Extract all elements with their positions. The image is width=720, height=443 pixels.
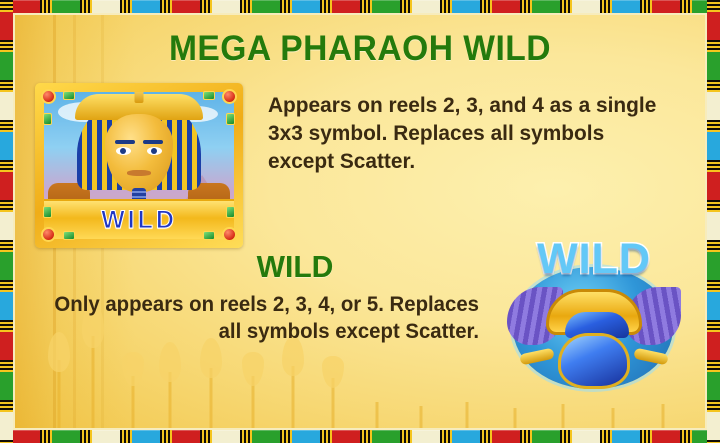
border-jewels <box>0 430 720 443</box>
border-jewel-block <box>0 212 13 240</box>
border-jewel-block <box>412 430 440 443</box>
border-stripe-group <box>707 120 720 132</box>
border-jewel-block <box>372 430 400 443</box>
frame-gem-icon <box>63 91 75 100</box>
border-jewel-block <box>0 412 13 440</box>
border-stripe-group <box>320 430 332 443</box>
uraeus-cobra-icon <box>135 92 144 103</box>
border-jewel-block <box>0 292 13 320</box>
border-jewel-block <box>92 430 120 443</box>
border-jewel-block <box>212 430 240 443</box>
border-jewel-block <box>412 0 440 13</box>
scarab-wild-symbol: WILD <box>491 235 697 395</box>
border-stripe-group <box>640 430 652 443</box>
border-stripe-group <box>520 430 532 443</box>
border-jewel-block <box>332 430 360 443</box>
border-stripe-group <box>560 0 572 13</box>
scarab-shell <box>546 289 642 335</box>
border-jewel-block <box>707 212 720 240</box>
frame-gem-icon <box>43 206 52 218</box>
border-stripe-group <box>707 0 720 12</box>
border-jewel-block <box>492 0 520 13</box>
border-stripe-group <box>440 0 452 13</box>
border-jewel-block <box>707 252 720 280</box>
border-stripe-group <box>240 0 252 13</box>
border-stripe-group <box>707 160 720 172</box>
border-stripe-group <box>707 40 720 52</box>
border-jewel-block <box>172 0 200 13</box>
border-jewels <box>0 0 720 13</box>
border-stripe-group <box>560 430 572 443</box>
frame-gem-icon <box>63 231 75 240</box>
frame-gem-icon <box>203 231 215 240</box>
border-jewel-block <box>532 430 560 443</box>
frame-gem-icon <box>226 113 235 125</box>
border-jewel-block <box>532 0 560 13</box>
border-stripe-group <box>360 430 372 443</box>
mega-wild-section: WILD Appears on reels 2, 3, and 4 as a s… <box>15 75 705 250</box>
border-right <box>707 0 720 443</box>
frame-gem-icon <box>43 113 52 125</box>
border-stripe-group <box>600 430 612 443</box>
border-stripe-group <box>707 400 720 412</box>
border-top <box>0 0 720 13</box>
border-stripe-group <box>0 240 13 252</box>
frame-gem-icon <box>226 206 235 218</box>
border-stripe-group <box>0 200 13 212</box>
border-jewel-block <box>0 332 13 360</box>
border-stripe-group <box>80 430 92 443</box>
border-jewels <box>707 0 720 443</box>
border-jewel-block <box>52 0 80 13</box>
border-jewel-block <box>132 0 160 13</box>
border-stripe-group <box>0 120 13 132</box>
border-jewel-block <box>212 0 240 13</box>
border-jewel-block <box>92 0 120 13</box>
border-jewel-block <box>707 372 720 400</box>
border-jewel-block <box>52 430 80 443</box>
border-jewel-block <box>707 172 720 200</box>
frame-jewel-icon <box>222 89 237 104</box>
border-stripe-group <box>520 0 532 13</box>
border-stripe-group <box>160 0 172 13</box>
border-stripe-group <box>160 430 172 443</box>
border-jewel-block <box>252 0 280 13</box>
border-stripe-group <box>200 430 212 443</box>
border-stripe-group <box>0 0 13 12</box>
border-jewel-block <box>132 430 160 443</box>
border-stripe-group <box>360 0 372 13</box>
border-stripe-group <box>80 0 92 13</box>
border-jewel-block <box>707 132 720 160</box>
border-jewel-block <box>492 430 520 443</box>
border-jewel-block <box>652 430 680 443</box>
border-jewel-block <box>0 92 13 120</box>
border-jewel-block <box>452 430 480 443</box>
border-jewel-block <box>652 0 680 13</box>
border-stripe-group <box>120 430 132 443</box>
border-jewel-block <box>332 0 360 13</box>
standard-wild-section: WILD Only appears on reels 2, 3, 4, or 5… <box>15 243 705 403</box>
border-stripe-group <box>680 0 692 13</box>
content-panel: MEGA PHARAOH WILD <box>15 15 705 428</box>
border-jewel-block <box>252 430 280 443</box>
border-jewel-block <box>452 0 480 13</box>
border-stripe-group <box>0 80 13 92</box>
border-stripe-group <box>707 80 720 92</box>
border-left <box>0 0 13 443</box>
scarab-wild-label: WILD <box>491 235 697 284</box>
border-jewel-block <box>372 0 400 13</box>
border-jewel-block <box>707 52 720 80</box>
paytable-card: MEGA PHARAOH WILD <box>0 0 720 443</box>
border-stripe-group <box>400 0 412 13</box>
border-jewel-block <box>612 430 640 443</box>
border-stripe-group <box>0 280 13 292</box>
border-stripe-group <box>480 430 492 443</box>
border-stripe-group <box>400 430 412 443</box>
border-stripe-group <box>280 430 292 443</box>
border-stripe-group <box>200 0 212 13</box>
wild-description: Only appears on reels 2, 3, 4, or 5. Rep… <box>43 291 480 345</box>
border-stripe-group <box>240 430 252 443</box>
scarab-body <box>546 281 642 387</box>
border-stripe-group <box>40 430 52 443</box>
border-stripe-group <box>600 0 612 13</box>
border-jewel-block <box>0 132 13 160</box>
border-jewel-block <box>707 332 720 360</box>
border-stripe-group <box>320 0 332 13</box>
border-jewel-block <box>12 430 40 443</box>
symbol-wild-label: WILD <box>101 206 177 235</box>
border-stripe-group <box>0 400 13 412</box>
border-stripe-group <box>707 320 720 332</box>
border-bottom <box>0 430 720 443</box>
border-jewel-block <box>0 372 13 400</box>
scarab-gem <box>558 333 630 389</box>
frame-jewel-icon <box>41 89 56 104</box>
border-jewels <box>0 0 13 443</box>
border-stripe-group <box>707 240 720 252</box>
border-jewel-block <box>0 252 13 280</box>
border-jewel-block <box>0 172 13 200</box>
border-jewel-block <box>292 0 320 13</box>
border-jewel-block <box>707 92 720 120</box>
border-stripe-group <box>40 0 52 13</box>
page-title: MEGA PHARAOH WILD <box>29 29 691 69</box>
border-jewel-block <box>707 12 720 40</box>
border-stripe-group <box>680 430 692 443</box>
frame-jewel-icon <box>41 227 56 242</box>
border-jewel-block <box>0 12 13 40</box>
border-jewel-block <box>12 0 40 13</box>
border-stripe-group <box>707 360 720 372</box>
frame-jewel-icon <box>222 227 237 242</box>
border-stripe-group <box>707 200 720 212</box>
border-jewel-block <box>0 52 13 80</box>
mega-wild-description: Appears on reels 2, 3, and 4 as a single… <box>268 91 669 175</box>
pharaoh-symbol-art: WILD <box>44 92 234 239</box>
border-stripe-group <box>0 160 13 172</box>
border-jewel-block <box>572 0 600 13</box>
frame-gem-icon <box>203 91 215 100</box>
border-stripe-group <box>640 0 652 13</box>
border-jewel-block <box>707 412 720 440</box>
border-jewel-block <box>172 430 200 443</box>
border-jewel-block <box>707 292 720 320</box>
pharaoh-wild-symbol: WILD <box>35 83 243 248</box>
border-jewel-block <box>292 430 320 443</box>
border-jewel-block <box>572 430 600 443</box>
border-stripe-group <box>0 320 13 332</box>
border-jewel-block <box>612 0 640 13</box>
border-stripe-group <box>707 280 720 292</box>
border-stripe-group <box>280 0 292 13</box>
border-stripe-group <box>440 430 452 443</box>
border-stripe-group <box>480 0 492 13</box>
border-stripe-group <box>0 40 13 52</box>
border-stripe-group <box>120 0 132 13</box>
border-stripe-group <box>0 360 13 372</box>
